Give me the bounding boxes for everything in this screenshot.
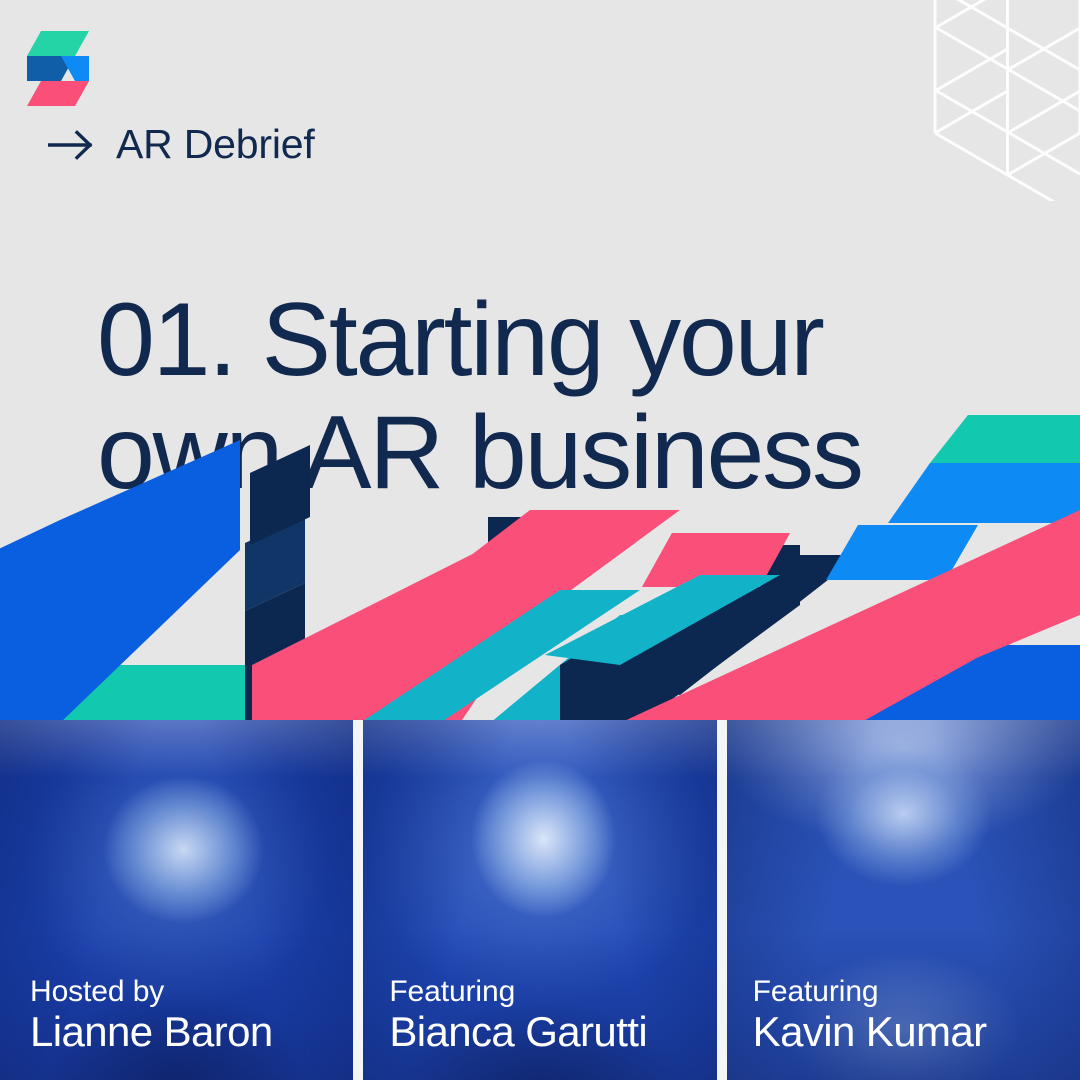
speaker-panel[interactable]: Featuring Kavin Kumar	[727, 720, 1080, 1080]
isometric-grid-pattern-icon	[880, 0, 1080, 201]
speaker-strip: Hosted by Lianne Baron Featuring Bianca …	[0, 720, 1080, 1080]
speaker-caption: Featuring Bianca Garutti	[389, 975, 702, 1056]
speaker-name: Bianca Garutti	[389, 1008, 702, 1056]
speaker-caption: Hosted by Lianne Baron	[30, 975, 339, 1056]
speaker-name: Kavin Kumar	[753, 1008, 1066, 1056]
speaker-name: Lianne Baron	[30, 1008, 339, 1056]
page-title-line1: 01. Starting your	[97, 282, 823, 398]
speaker-role: Hosted by	[30, 975, 339, 1009]
speaker-role: Featuring	[753, 975, 1066, 1009]
arrow-right-icon	[48, 130, 94, 160]
speaker-panel[interactable]: Featuring Bianca Garutti	[363, 720, 716, 1080]
diagonal-stripe-graphic	[0, 415, 1080, 723]
speaker-panel[interactable]: Hosted by Lianne Baron	[0, 720, 353, 1080]
eyebrow: AR Debrief	[48, 124, 315, 165]
spark-s-logo-icon[interactable]	[27, 29, 89, 109]
poster-canvas: AR Debrief 01. Starting your own AR busi…	[0, 0, 1080, 1080]
speaker-caption: Featuring Kavin Kumar	[753, 975, 1066, 1056]
eyebrow-label: AR Debrief	[116, 124, 315, 165]
speaker-role: Featuring	[389, 975, 702, 1009]
